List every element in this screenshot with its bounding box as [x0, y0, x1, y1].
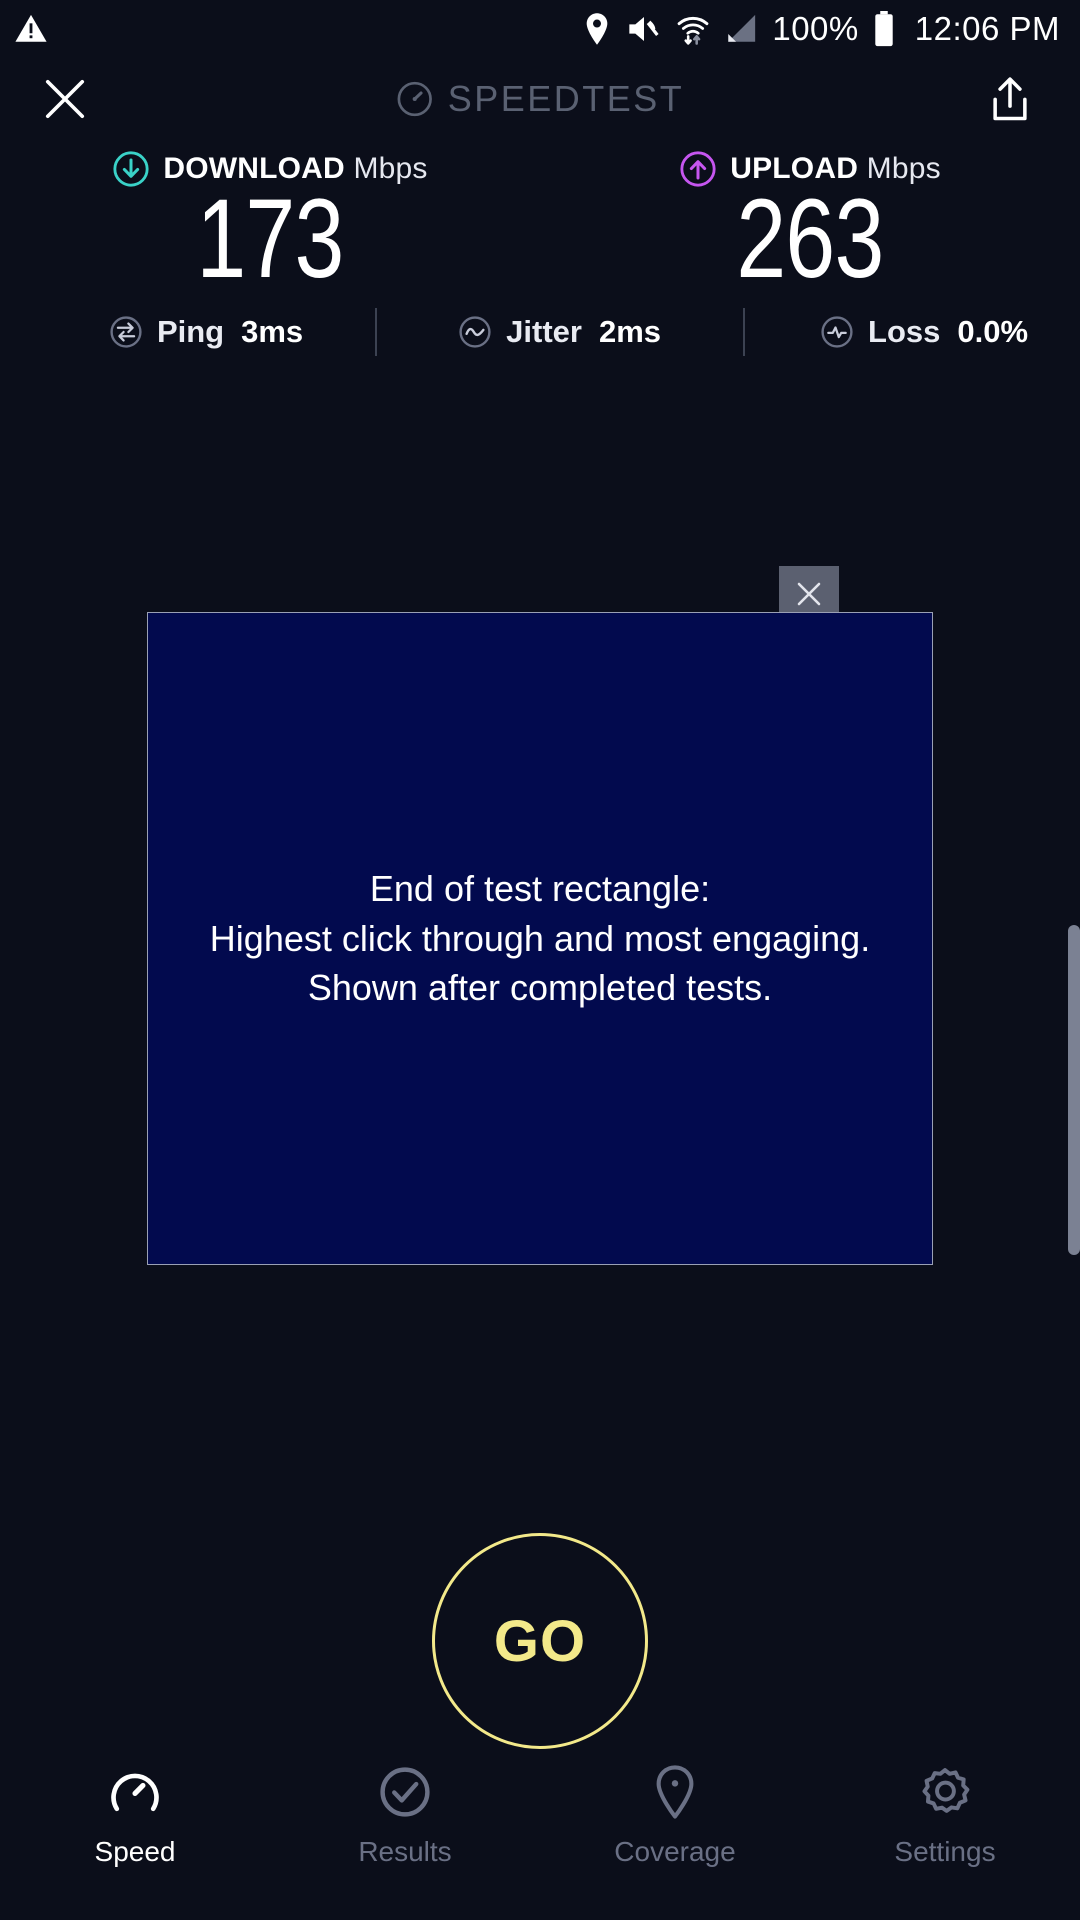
cellular-signal-icon [724, 13, 758, 45]
metric-jitter-label: Jitter [506, 314, 582, 350]
metric-divider [375, 308, 377, 356]
metric-ping-value: 3ms [241, 314, 303, 350]
battery-percent-label: 100% [772, 10, 858, 48]
metrics-row: Ping 3ms Jitter 2ms [0, 308, 1080, 356]
nav-item-coverage[interactable]: Coverage [540, 1764, 810, 1868]
metric-jitter: Jitter 2ms [457, 314, 661, 350]
go-button[interactable]: GO [432, 1533, 648, 1749]
share-upload-icon[interactable] [982, 69, 1038, 129]
brand-lockup: SPEEDTEST [396, 78, 685, 120]
advertisement-container: End of test rectangle: Highest click thr… [147, 612, 933, 1265]
nav-item-results-label: Results [358, 1836, 451, 1868]
speed-readouts: DOWNLOAD Mbps 173 UPLOAD Mbps 263 [0, 140, 1080, 296]
nav-item-settings[interactable]: Settings [810, 1764, 1080, 1868]
speedometer-icon [396, 80, 434, 118]
ping-icon [108, 314, 144, 350]
nav-item-results[interactable]: Results [270, 1764, 540, 1868]
ad-copy: End of test rectangle: Highest click thr… [196, 864, 884, 1013]
nav-item-speed-label: Speed [95, 1836, 176, 1868]
download-readout: DOWNLOAD Mbps 173 [0, 150, 540, 296]
nav-item-speed[interactable]: Speed [0, 1764, 270, 1868]
nav-item-settings-label: Settings [894, 1836, 995, 1868]
check-circle-icon [377, 1764, 433, 1820]
volume-mute-icon [626, 13, 662, 45]
metric-loss-label: Loss [868, 314, 940, 350]
page-title: SPEEDTEST [448, 78, 685, 120]
location-pin-icon [582, 12, 612, 46]
download-value: 173 [196, 182, 343, 296]
bottom-navigation-bar: Speed Results Coverage [0, 1752, 1080, 1920]
loss-icon [819, 314, 855, 350]
nav-item-coverage-label: Coverage [614, 1836, 735, 1868]
ad-line-3: Shown after completed tests. [210, 963, 870, 1013]
battery-full-icon [873, 11, 895, 47]
status-bar-right: 100% 12:06 PM [582, 10, 1060, 48]
ad-line-1: End of test rectangle: [210, 864, 870, 914]
metric-ping-label: Ping [157, 314, 224, 350]
close-x-icon[interactable] [34, 68, 96, 130]
metric-jitter-value: 2ms [599, 314, 661, 350]
status-bar-left [14, 12, 48, 46]
metric-divider [743, 308, 745, 356]
jitter-icon [457, 314, 493, 350]
upload-value: 263 [736, 182, 883, 296]
ad-line-2: Highest click through and most engaging. [210, 914, 870, 964]
results-panel: DOWNLOAD Mbps 173 UPLOAD Mbps 263 [0, 140, 1080, 356]
wifi-transfer-icon [676, 12, 710, 46]
arrow-up-circle-icon [679, 150, 717, 188]
status-bar-clock: 12:06 PM [915, 10, 1060, 48]
speedometer-icon [107, 1764, 163, 1820]
warning-triangle-icon [14, 12, 48, 46]
speedtest-app-screen: 100% 12:06 PM SP [0, 0, 1080, 1920]
location-pin-icon [647, 1764, 703, 1820]
scrollbar-thumb[interactable] [1068, 925, 1080, 1255]
status-bar: 100% 12:06 PM [0, 0, 1080, 58]
app-header: SPEEDTEST [0, 58, 1080, 140]
metric-ping: Ping 3ms [108, 314, 303, 350]
metric-loss-value: 0.0% [957, 314, 1028, 350]
go-button-label: GO [494, 1608, 586, 1675]
gear-icon [917, 1764, 973, 1820]
advertisement-banner[interactable]: End of test rectangle: Highest click thr… [147, 612, 933, 1265]
metric-loss: Loss 0.0% [819, 314, 1028, 350]
arrow-down-circle-icon [112, 150, 150, 188]
upload-readout: UPLOAD Mbps 263 [540, 150, 1080, 296]
